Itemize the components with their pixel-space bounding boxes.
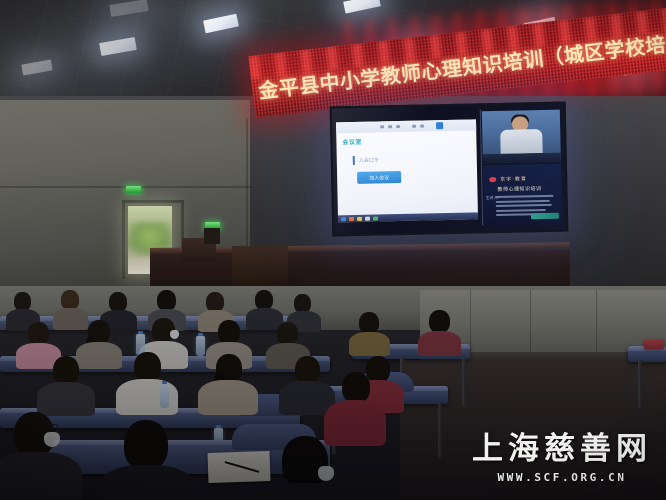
projection-screen: 会议室 入会口令 加入会议 bbox=[330, 102, 569, 237]
wall-panel-seam-3 bbox=[596, 290, 597, 360]
watermark-url: WWW.SCF.ORG.CN bbox=[472, 471, 652, 484]
shoulders bbox=[324, 400, 386, 446]
browser-icon[interactable] bbox=[349, 217, 354, 221]
shoulders bbox=[37, 382, 95, 416]
wall-panel-seam-2 bbox=[530, 290, 531, 360]
desk-leg-b2 bbox=[462, 358, 466, 406]
head bbox=[134, 352, 161, 382]
shoulders bbox=[198, 380, 258, 415]
face-mask bbox=[44, 432, 60, 447]
bottle-cap bbox=[138, 331, 143, 334]
slide-line-3 bbox=[496, 204, 552, 207]
lecture-hall-photo: 金平县中小学教师心理知识培训（城区学校培训点） 会议室 入会口令 bbox=[0, 0, 666, 500]
exit-sign-left bbox=[126, 186, 141, 193]
slide-highlight-bar bbox=[531, 213, 559, 220]
bottle-cap bbox=[198, 333, 203, 336]
head bbox=[282, 436, 328, 488]
head bbox=[61, 290, 79, 310]
folder-icon[interactable] bbox=[357, 216, 362, 220]
presenter-desk bbox=[483, 153, 561, 164]
slide-pane: 东宇·教育 教师心理知识培训 主讲人： bbox=[483, 164, 562, 226]
face-mask bbox=[170, 330, 179, 339]
bottle-cap bbox=[216, 425, 221, 428]
toolbar-dot-1 bbox=[380, 125, 384, 128]
projection-screen-content: 会议室 入会口令 加入会议 bbox=[332, 104, 567, 235]
notebook-right bbox=[644, 340, 664, 349]
app-toolbar bbox=[336, 119, 476, 133]
wall-panel-seam-1 bbox=[470, 290, 471, 360]
bottle-cap bbox=[162, 381, 167, 384]
input-caret bbox=[353, 156, 355, 165]
glasses bbox=[44, 424, 58, 432]
slide-bullet-marker bbox=[489, 177, 496, 182]
shoulders bbox=[76, 342, 122, 369]
water-bottle-c1 bbox=[160, 384, 169, 408]
toolbar-dot-2 bbox=[388, 125, 392, 128]
head bbox=[277, 322, 298, 345]
lectern-desk bbox=[232, 246, 288, 288]
presenter-video-pane bbox=[482, 110, 561, 164]
head bbox=[206, 292, 224, 312]
head bbox=[28, 322, 49, 345]
head bbox=[429, 310, 450, 333]
shoulders bbox=[418, 331, 461, 356]
chat-icon[interactable] bbox=[373, 216, 378, 220]
head bbox=[124, 420, 168, 470]
head bbox=[255, 290, 273, 310]
shoulders bbox=[349, 332, 390, 356]
join-code-value: 入会口令 bbox=[359, 156, 379, 163]
head bbox=[342, 372, 370, 403]
slide-line-1 bbox=[496, 195, 554, 198]
head bbox=[295, 356, 320, 384]
face-mask bbox=[318, 466, 334, 481]
head bbox=[366, 356, 390, 383]
windows-taskbar bbox=[338, 212, 478, 222]
watermark: 上海慈善网 WWW.SCF.ORG.CN bbox=[472, 434, 652, 484]
shoulders bbox=[53, 308, 88, 330]
shoulders bbox=[98, 465, 196, 500]
presenter-body bbox=[500, 129, 542, 154]
head bbox=[359, 312, 379, 334]
media-icon[interactable] bbox=[365, 216, 370, 220]
desk-leg-c2 bbox=[438, 402, 442, 458]
slide-title: 教师心理知识培训 bbox=[497, 185, 541, 193]
slide-subtitle: 东宇·教育 bbox=[500, 175, 527, 183]
head bbox=[53, 356, 79, 385]
slide-line-2 bbox=[496, 199, 550, 202]
head bbox=[109, 292, 127, 312]
toolbar-dot-4 bbox=[412, 125, 416, 128]
slide-line-4 bbox=[496, 209, 546, 212]
shoulders bbox=[0, 452, 82, 500]
grid-icon[interactable] bbox=[436, 122, 443, 129]
desk-leg-e1 bbox=[638, 360, 642, 408]
toolbar-dot-3 bbox=[396, 125, 400, 128]
head bbox=[218, 320, 240, 344]
app-logo-label: 会议室 bbox=[342, 137, 362, 146]
meeting-app-window: 会议室 入会口令 加入会议 bbox=[336, 119, 478, 222]
join-code-input[interactable]: 入会口令 bbox=[353, 155, 415, 165]
water-bottle-b2 bbox=[196, 336, 205, 356]
head bbox=[157, 290, 176, 311]
join-meeting-button[interactable]: 加入会议 bbox=[357, 171, 401, 184]
watermark-chinese: 上海慈善网 bbox=[472, 434, 652, 465]
toolbar-dot-5 bbox=[420, 125, 424, 128]
start-icon[interactable] bbox=[341, 217, 346, 221]
stage-speaker-box bbox=[204, 228, 220, 244]
